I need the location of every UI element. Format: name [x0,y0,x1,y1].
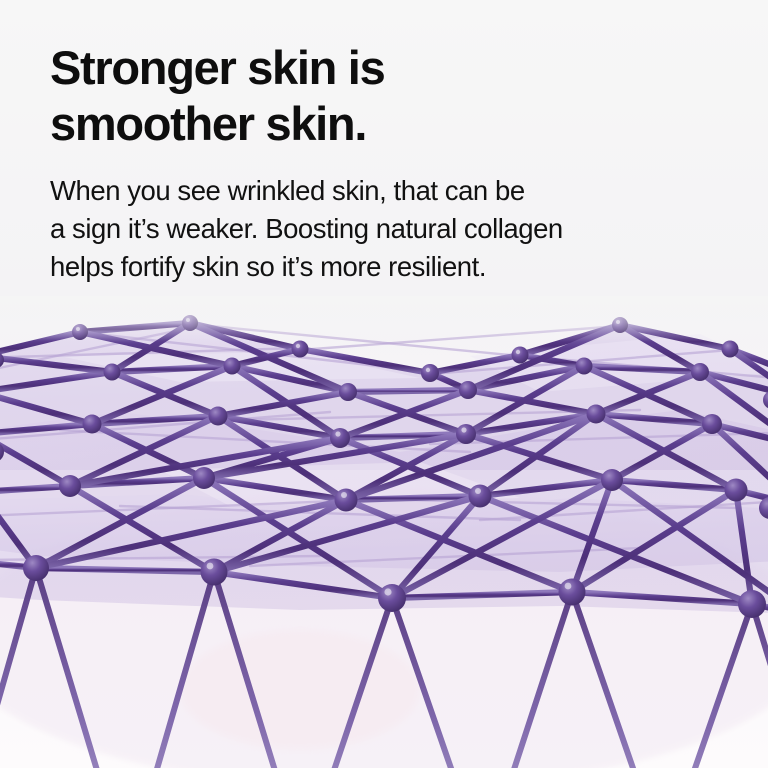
body-paragraph: When you see wrinkled skin, that can be … [50,152,730,286]
poster-canvas: Stronger skin is smoother skin. When you… [0,0,768,768]
copy-block: Stronger skin is smoother skin. When you… [50,40,730,286]
page-title: Stronger skin is smoother skin. [50,40,730,152]
top-fade [0,296,768,342]
